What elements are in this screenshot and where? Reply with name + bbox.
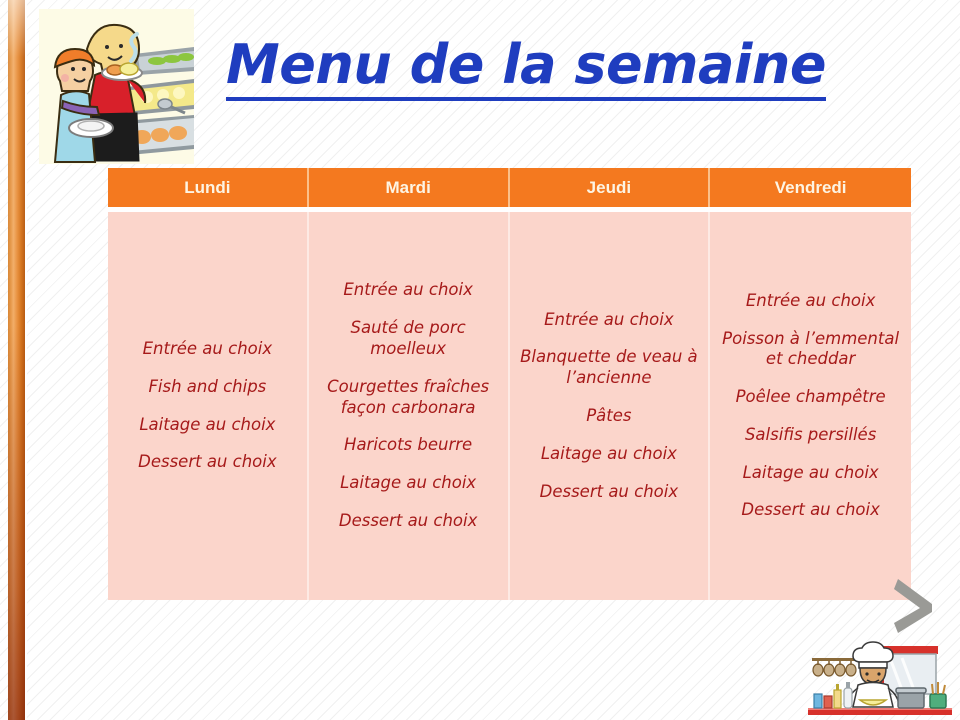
dish-item: Fish and chips	[116, 377, 299, 398]
dish-item: Sauté de porc moelleux	[317, 318, 500, 360]
dish-item: Entrée au choix	[317, 280, 500, 301]
dish-list-jeudi: Entrée au choixBlanquette de veau à l’an…	[518, 310, 701, 503]
dish-item: Poêlee champêtre	[718, 387, 903, 408]
menu-cell-mardi: Entrée au choixSauté de porc moelleuxCou…	[309, 212, 510, 600]
dish-item: Laitage au choix	[317, 473, 500, 494]
dish-item: Dessert au choix	[317, 511, 500, 532]
column-header-lundi: Lundi	[108, 168, 309, 207]
dish-list-lundi: Entrée au choixFish and chipsLaitage au …	[116, 339, 299, 473]
slide-canvas: Menu de la semaine Lundi Mardi Jeudi Ven…	[0, 0, 960, 720]
dish-item: Pâtes	[518, 406, 701, 427]
dish-item: Laitage au choix	[718, 463, 903, 484]
dish-item: Dessert au choix	[116, 452, 299, 473]
dish-item: Entrée au choix	[518, 310, 701, 331]
dish-item: Dessert au choix	[518, 482, 701, 503]
column-header-jeudi: Jeudi	[510, 168, 711, 207]
chef-clipart	[806, 638, 954, 718]
chevron-right-icon	[892, 577, 938, 635]
dish-item: Salsifis persillés	[718, 425, 903, 446]
dish-item: Blanquette de veau à l’ancienne	[518, 347, 701, 389]
left-accent-bar-edge	[25, 0, 27, 720]
dish-item: Dessert au choix	[718, 500, 903, 521]
menu-cell-jeudi: Entrée au choixBlanquette de veau à l’an…	[510, 212, 711, 600]
dish-item: Laitage au choix	[518, 444, 701, 465]
dish-item: Laitage au choix	[116, 415, 299, 436]
menu-cell-lundi: Entrée au choixFish and chipsLaitage au …	[108, 212, 309, 600]
dish-item: Entrée au choix	[116, 339, 299, 360]
dish-item: Entrée au choix	[718, 291, 903, 312]
column-header-mardi: Mardi	[309, 168, 510, 207]
page-title: Menu de la semaine	[216, 38, 836, 101]
dish-item: Poisson à l’emmental et cheddar	[718, 329, 903, 371]
canteen-clipart	[39, 9, 194, 164]
page-title-text: Menu de la semaine	[226, 38, 826, 101]
dish-list-mardi: Entrée au choixSauté de porc moelleuxCou…	[317, 280, 500, 531]
left-accent-bar	[8, 0, 25, 720]
weekly-menu-table: Lundi Mardi Jeudi Vendredi Entrée au cho…	[108, 168, 911, 600]
dish-item: Haricots beurre	[317, 435, 500, 456]
column-header-vendredi: Vendredi	[710, 168, 911, 207]
dish-list-vendredi: Entrée au choixPoisson à l’emmental et c…	[718, 291, 903, 521]
table-body-row: Entrée au choixFish and chipsLaitage au …	[108, 212, 911, 600]
dish-item: Courgettes fraîches façon carbonara	[317, 377, 500, 419]
table-header-row: Lundi Mardi Jeudi Vendredi	[108, 168, 911, 207]
menu-cell-vendredi: Entrée au choixPoisson à l’emmental et c…	[710, 212, 911, 600]
